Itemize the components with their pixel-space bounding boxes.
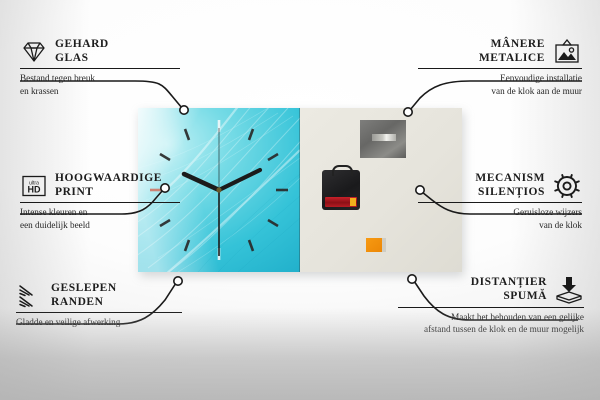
- callout-rule: [16, 312, 182, 313]
- callout-desc-line1: Geruisloze wijzers: [418, 206, 582, 218]
- callout-hoogwaardige-print[interactable]: ultra HD HOOGWAARDIGE PRINT Intense kleu…: [20, 172, 180, 231]
- callout-distantier-spuma[interactable]: DISTANȚIER SPUMĂ Maakt het behouden van …: [398, 276, 584, 336]
- foam-spacer: [366, 238, 382, 252]
- callout-desc-line2: van de klok: [418, 219, 582, 231]
- battery-terminal: [350, 198, 356, 206]
- callout-desc-line1: Maakt het behouden van een gelijke: [398, 311, 584, 323]
- ultra-hd-icon: ultra HD: [20, 174, 48, 198]
- callout-title-line1: MÂNERE: [479, 38, 545, 52]
- arrow-on-pad-icon: [554, 276, 584, 304]
- callout-rule: [20, 202, 180, 203]
- gear-icon: [552, 173, 582, 199]
- hd-label: HD: [28, 184, 41, 194]
- callout-mecanism-silentios[interactable]: MECANISM SILENȚIOS Geruisloze wijzers va…: [418, 172, 582, 231]
- infographic-canvas: GEHARD GLAS Bestand tegen breuk en krass…: [0, 0, 600, 400]
- callout-title-line1: GESLEPEN: [51, 282, 117, 296]
- callout-title-line1: HOOGWAARDIGE: [55, 172, 162, 186]
- callout-header: DISTANȚIER SPUMĂ: [398, 276, 584, 304]
- callout-title-line1: GEHARD: [55, 38, 109, 52]
- product-image: [138, 108, 462, 272]
- callout-title-line2: PRINT: [55, 186, 162, 200]
- callout-title-line2: SILENȚIOS: [475, 186, 545, 200]
- callout-title-line1: DISTANȚIER: [471, 276, 547, 290]
- battery: [325, 197, 357, 207]
- callout-header: ultra HD HOOGWAARDIGE PRINT: [20, 172, 180, 199]
- callout-gehard-glas[interactable]: GEHARD GLAS Bestand tegen breuk en krass…: [20, 38, 180, 97]
- callout-desc-line1: Intense kleuren en: [20, 206, 180, 218]
- callout-header: MÂNERE METALICE: [418, 38, 582, 65]
- clock-mechanism: [322, 170, 360, 210]
- callout-title-line2: SPUMĂ: [471, 290, 547, 304]
- callout-title-line2: METALICE: [479, 52, 545, 66]
- hanger-slot: [372, 134, 396, 141]
- metal-hanger-plate: [360, 120, 406, 158]
- callout-title-line1: MECANISM: [475, 172, 545, 186]
- callout-manere-metalice[interactable]: MÂNERE METALICE Eenvoudige installatie v…: [418, 38, 582, 97]
- callout-desc-line1: Gladde en veilige afwerking: [16, 316, 182, 328]
- callout-rule: [418, 202, 582, 203]
- callout-header: GEHARD GLAS: [20, 38, 180, 65]
- callout-geslepen-randen[interactable]: GESLEPEN RANDEN Gladde en veilige afwerk…: [16, 282, 182, 329]
- callout-title-line2: RANDEN: [51, 296, 117, 310]
- callout-rule: [20, 68, 180, 69]
- callout-rule: [418, 68, 582, 69]
- callout-desc-line2: afstand tussen de klok en de muur mogeli…: [398, 323, 584, 335]
- callout-desc-line2: van de klok aan de muur: [418, 85, 582, 97]
- framed-picture-icon: [552, 39, 582, 65]
- callout-desc-line1: Bestand tegen breuk: [20, 72, 180, 84]
- mechanism-loop: [332, 165, 353, 176]
- diagonal-lines-icon: [16, 284, 44, 308]
- foam-spacer-edge: [382, 238, 386, 252]
- callout-desc-line2: een duidelijk beeld: [20, 219, 180, 231]
- callout-rule: [398, 307, 584, 308]
- callout-desc-line2: en krassen: [20, 85, 180, 97]
- callout-header: GESLEPEN RANDEN: [16, 282, 182, 309]
- callout-header: MECANISM SILENȚIOS: [418, 172, 582, 199]
- diamond-icon: [20, 40, 48, 64]
- callout-desc-line1: Eenvoudige installatie: [418, 72, 582, 84]
- callout-title-line2: GLAS: [55, 52, 109, 66]
